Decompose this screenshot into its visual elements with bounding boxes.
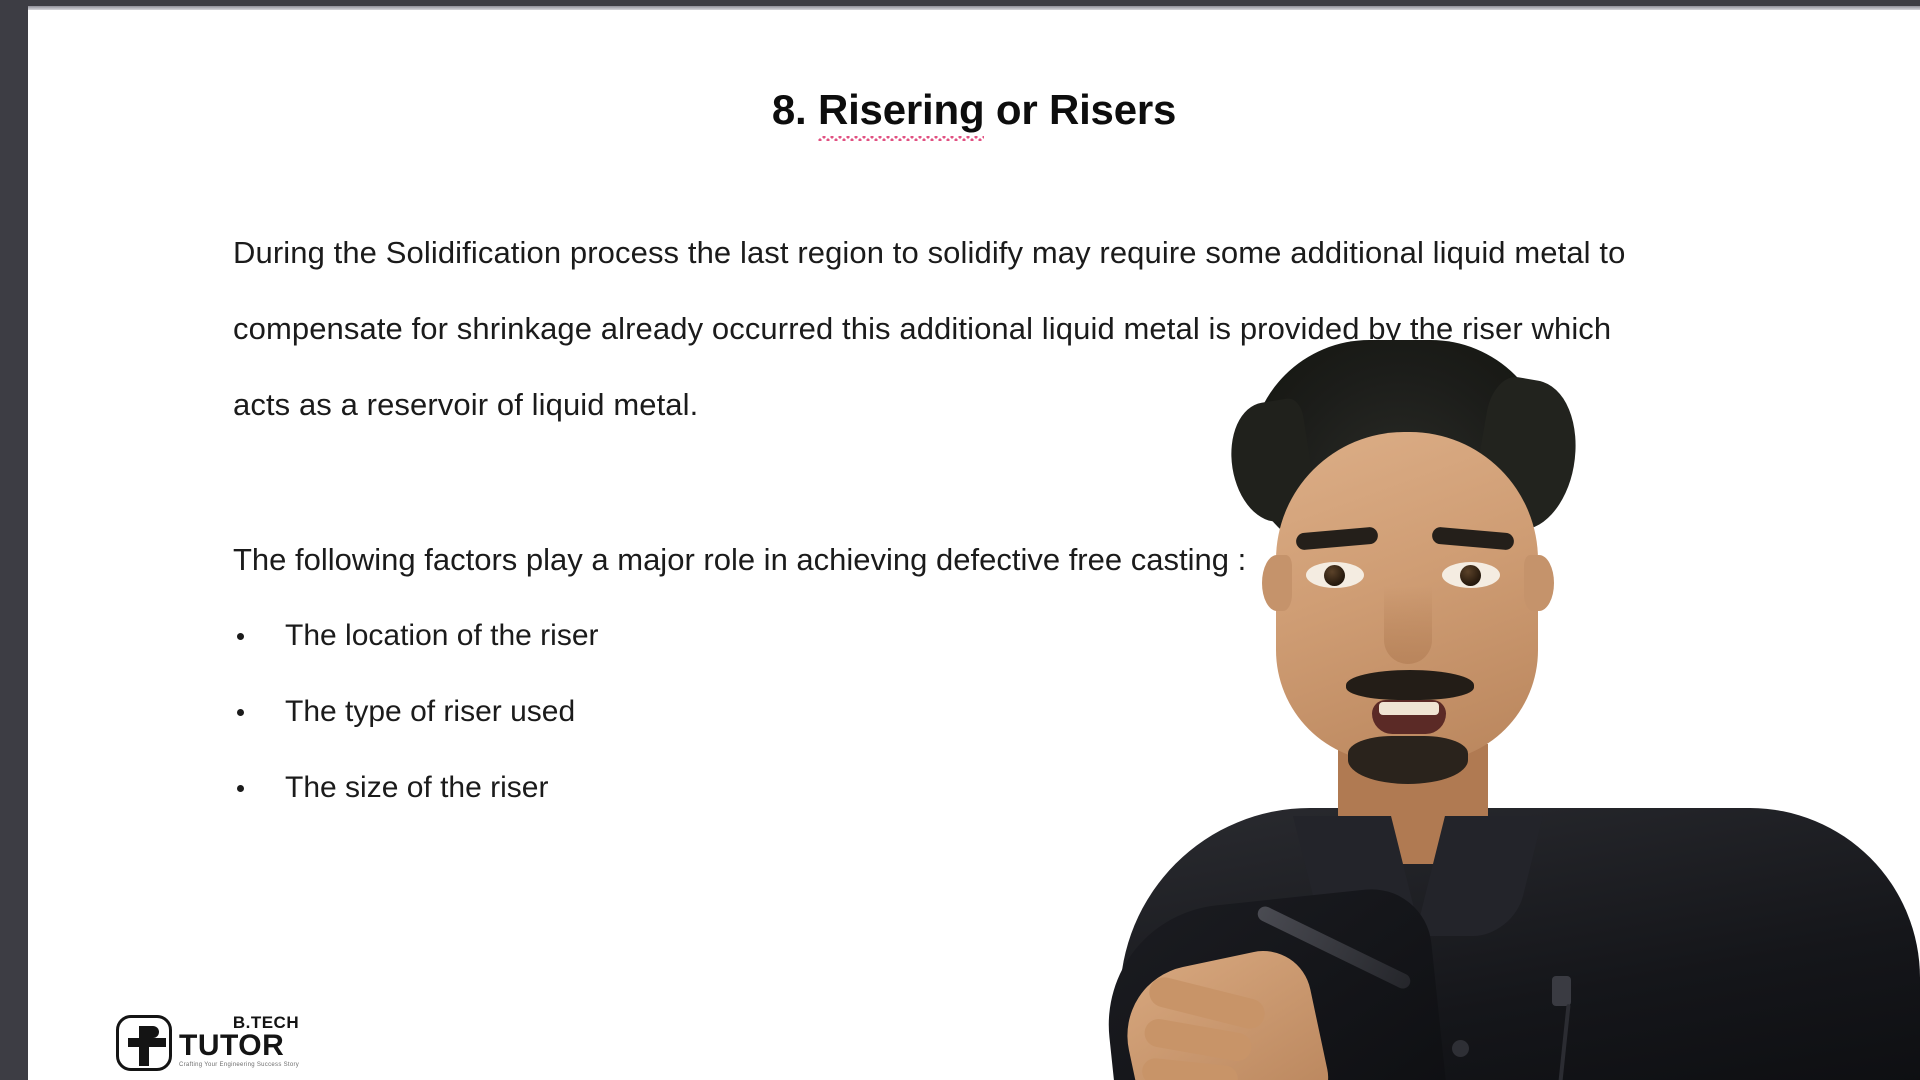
factors-lead-in-text: The following factors play a major role … [233, 538, 1693, 582]
shirt-button [1452, 1040, 1469, 1057]
logo-t-bar [128, 1038, 166, 1047]
title-misspelled-word: Risering [818, 86, 984, 134]
microphone-wire [1557, 1004, 1570, 1080]
brand-logo: B.TECH TUTOR Crafting Your Engineering S… [116, 1014, 299, 1073]
factors-list: The location of the riser The type of ri… [233, 614, 1693, 810]
presenter-hand [1114, 942, 1335, 1080]
slide-title: 8. Risering or Risers [28, 86, 1920, 134]
presenter-finger [1142, 1017, 1253, 1063]
logo-tutor-label: TUTOR [179, 1032, 299, 1061]
bullet-icon [237, 633, 244, 640]
btech-tutor-logo-icon [116, 1015, 172, 1071]
video-player-frame: 8. Risering or Risers During the Solidif… [0, 0, 1920, 1080]
pen-icon [1255, 904, 1413, 991]
intro-paragraph: During the Solidification process the la… [233, 215, 1663, 443]
title-number: 8. [772, 86, 807, 133]
list-item-label: The location of the riser [285, 619, 599, 652]
bullet-icon [237, 785, 244, 792]
logo-t-flag [147, 1026, 159, 1038]
presenter-arm [1100, 883, 1449, 1080]
presenter-torso [1120, 808, 1920, 1080]
presenter-finger [1146, 974, 1268, 1032]
logo-tagline: Crafting Your Engineering Success Story [179, 1062, 299, 1068]
logo-wordmark: B.TECH TUTOR Crafting Your Engineering S… [179, 1014, 299, 1073]
list-item-label: The size of the riser [285, 771, 548, 804]
list-item: The type of riser used [233, 690, 1693, 734]
bullet-icon [237, 709, 244, 716]
list-item: The location of the riser [233, 614, 1693, 658]
slide-body: During the Solidification process the la… [233, 215, 1693, 842]
lapel-microphone-icon [1552, 976, 1571, 1006]
list-item: The size of the riser [233, 766, 1693, 810]
logo-btech-label: B.TECH [179, 1014, 299, 1031]
presenter-finger [1141, 1057, 1239, 1080]
presentation-slide: 8. Risering or Risers During the Solidif… [28, 10, 1920, 1080]
list-item-label: The type of riser used [285, 695, 575, 728]
title-rest: or Risers [984, 86, 1176, 133]
